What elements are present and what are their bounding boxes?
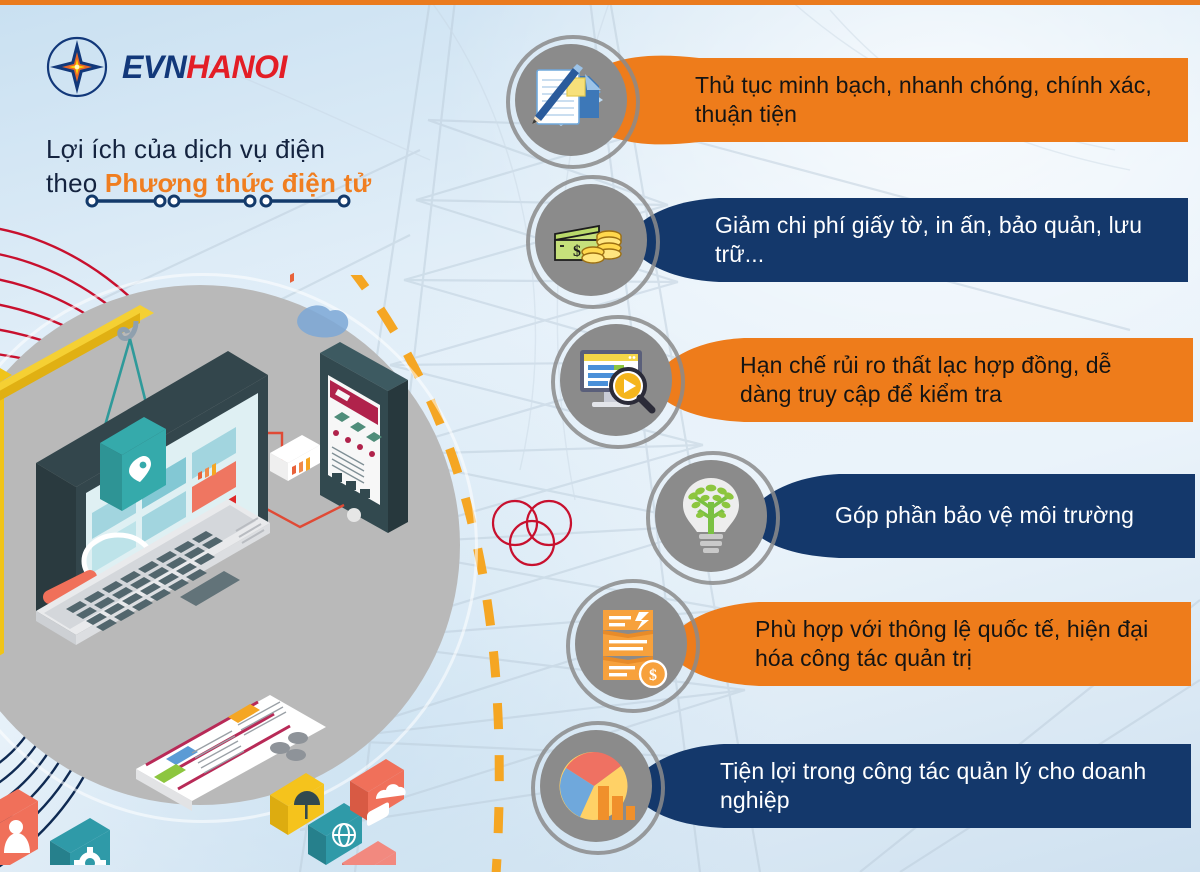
monitor-magnifier-icon — [572, 336, 660, 424]
brand-name-primary: EVN — [122, 49, 186, 85]
benefit-badge-1 — [505, 34, 637, 166]
benefit-badge-6 — [530, 720, 662, 852]
invoice-receipt-dollar-icon: $ — [587, 600, 675, 688]
laptop-isometric — [36, 351, 270, 645]
benefit-row-4[interactable]: Góp phần bảo vệ môi trường — [645, 450, 1195, 582]
benefit-row-1[interactable]: Thủ tục minh bạch, nhanh chóng, chính xá… — [505, 34, 1188, 166]
page-title-line1: Lợi ích của dịch vụ điện — [46, 132, 476, 166]
money-cash-coins-icon: $ — [547, 196, 635, 284]
bar-chart-card-icon — [270, 273, 320, 481]
benefit-row-6[interactable]: Tiện lợi trong công tác quản lý cho doan… — [530, 720, 1191, 852]
benefit-text-3: Hạn chế rủi ro thất lạc hợp đồng, dễ dàn… — [648, 351, 1193, 410]
benefit-text-5: Phù hợp với thông lệ quốc tế, hiện đại h… — [663, 615, 1191, 674]
benefit-banner-1: Thủ tục minh bạch, nhanh chóng, chính xá… — [603, 52, 1188, 148]
gear-settings-tile-icon — [50, 818, 110, 865]
benefit-badge-3 — [550, 314, 682, 446]
benefit-banner-4: Góp phần bảo vệ môi trường — [743, 468, 1195, 564]
benefit-banner-2: Giảm chi phí giấy tờ, in ấn, bảo quản, l… — [623, 192, 1188, 288]
benefit-banner-6: Tiện lợi trong công tác quản lý cho doan… — [628, 738, 1191, 834]
illustration-artwork — [0, 265, 500, 865]
benefit-text-1: Thủ tục minh bạch, nhanh chóng, chính xá… — [603, 71, 1188, 130]
benefit-banner-3: Hạn chế rủi ro thất lạc hợp đồng, dễ dàn… — [648, 332, 1193, 428]
evn-compass-star-icon — [46, 36, 108, 98]
benefit-badge-5: $ — [565, 578, 697, 710]
svg-text:$: $ — [573, 243, 581, 260]
illustration-digital-service — [0, 265, 500, 865]
notepad-pencil-icon — [527, 56, 615, 144]
benefit-banner-5: Phù hợp với thông lệ quốc tế, hiện đại h… — [663, 596, 1191, 692]
lightbulb-tree-icon — [667, 472, 755, 560]
benefit-text-2: Giảm chi phí giấy tờ, in ấn, bảo quản, l… — [623, 211, 1188, 270]
infographic-canvas: EVNHANOI Lợi ích của dịch vụ điện theo P… — [0, 0, 1200, 872]
benefit-row-2[interactable]: $ Giảm chi phí g — [525, 174, 1188, 306]
benefit-badge-2: $ — [525, 174, 657, 306]
benefit-text-4: Góp phần bảo vệ môi trường — [743, 501, 1160, 530]
user-profile-tile-icon — [0, 789, 38, 865]
brand-wordmark: EVNHANOI — [122, 51, 287, 83]
top-accent-bar — [0, 0, 1200, 5]
benefits-list: Thủ tục minh bạch, nhanh chóng, chính xá… — [505, 30, 1200, 865]
brand-name-secondary: HANOI — [186, 49, 287, 85]
benefit-row-3[interactable]: Hạn chế rủi ro thất lạc hợp đồng, dễ dàn… — [550, 314, 1193, 446]
pie-bar-chart-icon — [552, 742, 640, 830]
benefit-text-6: Tiện lợi trong công tác quản lý cho doan… — [628, 757, 1191, 816]
svg-text:$: $ — [649, 667, 657, 684]
brand-logo: EVNHANOI — [46, 36, 287, 98]
benefit-badge-4 — [645, 450, 777, 582]
cloud-shape-decoration — [297, 305, 348, 337]
title-underline-decoration — [82, 190, 362, 212]
smartphone-isometric — [320, 342, 408, 533]
benefit-row-5[interactable]: $ Phù hợp với thông lệ quốc tế, hiện đại… — [565, 578, 1191, 710]
